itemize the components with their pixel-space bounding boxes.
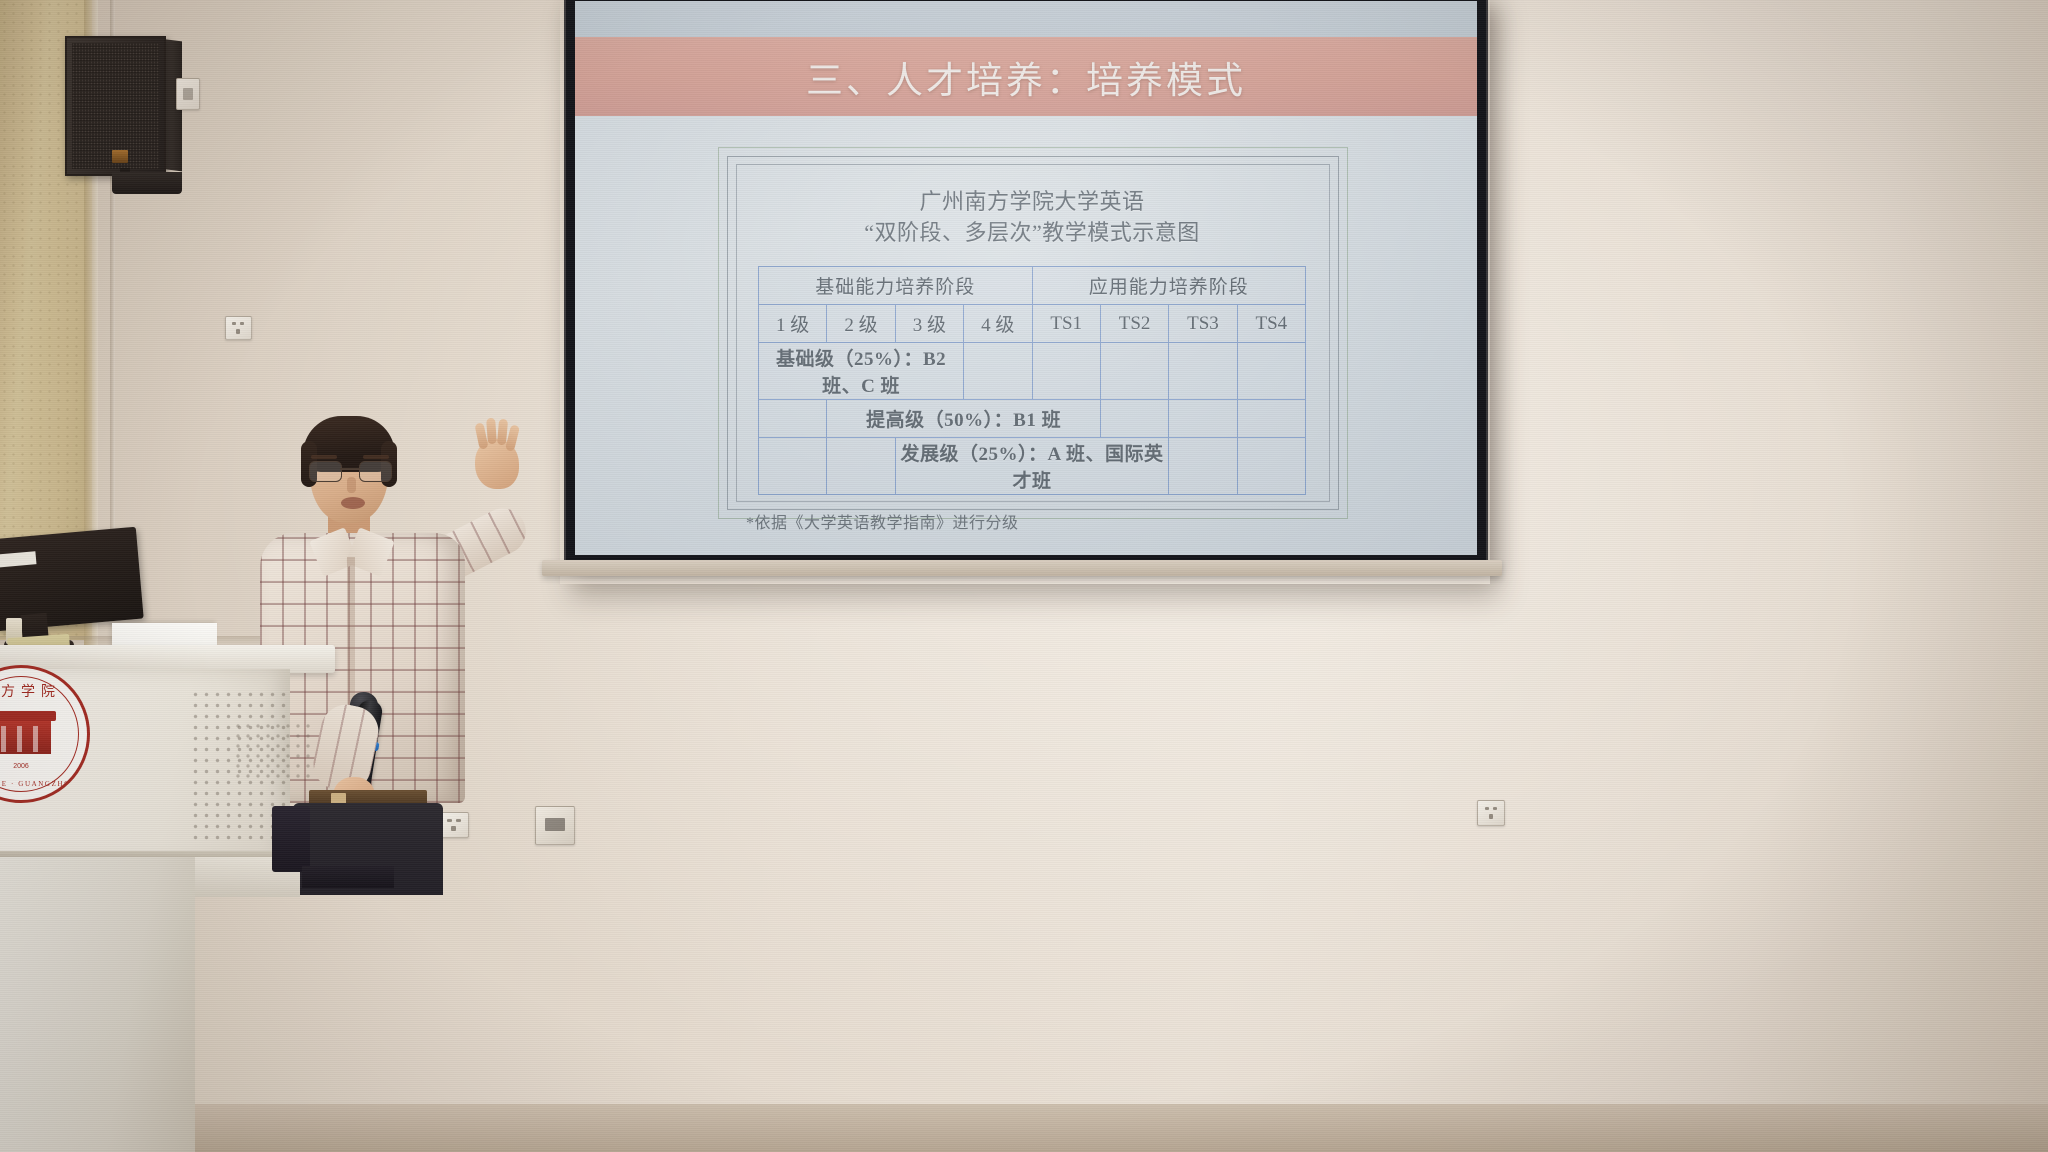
table-row-development-track: 发展级（25%）：A 班、国际英才班 [759, 438, 1306, 495]
track-basic-level: 基础级（25%）：B2 班、C 班 [759, 343, 964, 400]
track-development-empty-1 [759, 438, 827, 495]
diagram-heading: 广州南方学院大学英语 “双阶段、多层次”教学模式示意图 [864, 186, 1200, 248]
logo-chinese-name: 南方学院 [0, 681, 87, 701]
presenter-nose [347, 477, 356, 493]
diagram-heading-line-1: 广州南方学院大学英语 [864, 186, 1200, 217]
presenter-eyebrow-right [363, 455, 389, 459]
track-improved-empty-3 [1169, 400, 1237, 438]
foreground-object-shadow [302, 866, 394, 888]
table-row-stage-headers: 基础能力培养阶段 应用能力培养阶段 [759, 267, 1306, 305]
level-header-ts3: TS3 [1169, 305, 1237, 343]
lectern-speaker-vent-secondary [233, 721, 315, 779]
lectern-podium: 南方学院 2006 COLLEGE · GUANGZHOU [0, 645, 335, 1152]
lectern-front-panel [0, 857, 195, 1152]
track-improved-empty-2 [1100, 400, 1168, 438]
level-header-ts4: TS4 [1237, 305, 1305, 343]
glasses-lens-left [309, 461, 342, 482]
table-row-level-headers: 1 级 2 级 3 级 4 级 TS1 TS2 TS3 TS4 [759, 305, 1306, 343]
slide-title: 三、人才培养：培养模式 [806, 50, 1246, 104]
table-row-improved-track: 提高级（50%）：B1 班 [759, 400, 1306, 438]
presentation-slide: 三、人才培养：培养模式 广州南方学院大学英语 “双阶段、多层次”教学模式示意图 … [575, 1, 1477, 555]
track-development-empty-2 [827, 438, 895, 495]
level-header-1: 1 级 [759, 305, 827, 343]
table-row-basic-track: 基础级（25%）：B2 班、C 班 [759, 343, 1306, 400]
stage-header-applied: 应用能力培养阶段 [1032, 267, 1306, 305]
diagram-footnote: *依据《大学英语教学指南》进行分级 [746, 509, 1019, 533]
presenter-mouth [341, 497, 365, 509]
glasses-lens-right [359, 461, 392, 482]
lecture-hall-scene: 三、人才培养：培养模式 广州南方学院大学英语 “双阶段、多层次”教学模式示意图 … [0, 0, 2048, 1152]
logo-year: 2006 [0, 763, 87, 770]
level-header-ts2: TS2 [1100, 305, 1168, 343]
glasses-bridge [340, 468, 359, 470]
level-header-2: 2 级 [827, 305, 895, 343]
level-header-3: 3 级 [895, 305, 963, 343]
presenter-eyebrow-left [311, 455, 337, 459]
wall-power-socket-right[interactable] [1477, 800, 1505, 826]
track-development-level: 发展级（25%）：A 班、国际英才班 [895, 438, 1169, 495]
wall-switch-plate[interactable] [176, 78, 200, 110]
teaching-model-table: 基础能力培养阶段 应用能力培养阶段 1 级 2 级 3 级 4 级 TS1 TS… [758, 266, 1306, 495]
diagram-heading-line-2: “双阶段、多层次”教学模式示意图 [864, 217, 1200, 248]
ceiling-speaker [65, 36, 166, 176]
track-development-empty-3 [1169, 438, 1237, 495]
projection-screen: 三、人才培养：培养模式 广州南方学院大学英语 “双阶段、多层次”教学模式示意图 … [566, 0, 1486, 564]
track-basic-empty-3 [1100, 343, 1168, 400]
stage-header-basic: 基础能力培养阶段 [759, 267, 1033, 305]
presenter-pointing-hand [475, 439, 519, 489]
university-logo: 南方学院 2006 COLLEGE · GUANGZHOU [0, 665, 90, 803]
diagram-content: 广州南方学院大学英语 “双阶段、多层次”教学模式示意图 基础能力培养阶段 应用能… [736, 164, 1328, 500]
level-header-ts1: TS1 [1032, 305, 1100, 343]
logo-column-3 [33, 726, 38, 752]
track-basic-empty-1 [964, 343, 1032, 400]
wall-power-socket-upper[interactable] [225, 316, 252, 340]
track-improved-level: 提高级（50%）：B1 班 [827, 400, 1101, 438]
logo-column-1 [1, 726, 6, 752]
speaker-badge [112, 150, 128, 163]
speaker-mount-bracket [112, 172, 182, 194]
track-improved-empty-1 [759, 400, 827, 438]
track-development-empty-4 [1237, 438, 1305, 495]
track-basic-empty-5 [1237, 343, 1305, 400]
slide-title-banner: 三、人才培养：培养模式 [575, 37, 1477, 116]
logo-english-name: COLLEGE · GUANGZHOU [0, 780, 87, 788]
screen-bottom-rail [542, 560, 1502, 576]
foreground-object [272, 806, 310, 872]
level-header-4: 4 级 [964, 305, 1032, 343]
slide-top-strip [575, 1, 1477, 37]
logo-column-2 [17, 726, 22, 752]
track-basic-empty-4 [1169, 343, 1237, 400]
logo-building-icon [0, 720, 51, 754]
track-basic-empty-2 [1032, 343, 1100, 400]
track-improved-empty-4 [1237, 400, 1305, 438]
wall-outlet-panel[interactable] [535, 806, 575, 845]
